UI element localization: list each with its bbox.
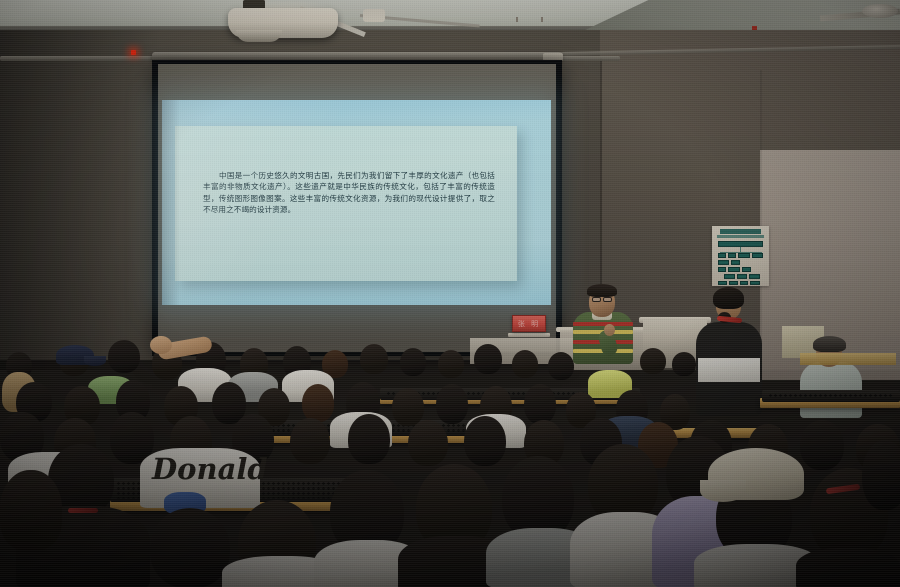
wall-left-shadow: [0, 30, 160, 370]
projector-connector: [363, 9, 385, 22]
audience-head: [436, 384, 468, 424]
poster-node: [728, 253, 736, 258]
cap-brim-icon: [84, 356, 106, 366]
shirt-text: Donald: [152, 452, 268, 486]
placard-base: [508, 333, 550, 337]
audience-head: [640, 348, 666, 374]
poster-node: [731, 260, 740, 265]
projected-image-area: 中国是一个历史悠久的文明古国，先民们为我们留下了丰厚的文化遗产（也包括丰富的非物…: [162, 100, 551, 305]
audience-head: [408, 420, 448, 466]
necklace-icon: [68, 508, 98, 513]
audience-head: [438, 350, 464, 378]
poster-node: [750, 281, 760, 285]
seat-back: [762, 390, 900, 402]
ceiling-fan-hub-icon: [862, 4, 898, 18]
presentation-slide: 中国是一个历史悠久的文明古国，先民们为我们留下了丰厚的文化遗产（也包括丰富的非物…: [175, 126, 517, 281]
poster-node: [718, 281, 727, 285]
presenter-hand: [604, 324, 615, 336]
wall-notice-board: [712, 226, 769, 286]
audience-head: [548, 352, 574, 380]
audience-head: [348, 414, 390, 464]
poster-subheading: [717, 235, 764, 238]
audience-head: [524, 384, 556, 424]
poster-node: [718, 260, 729, 265]
eyeglasses-icon: [603, 297, 612, 302]
placard-leg: [541, 17, 543, 22]
audience-head: [290, 418, 330, 464]
poster-node: [724, 274, 735, 279]
speaker-name-placard: 张 明: [512, 315, 546, 332]
poster-node: [729, 281, 738, 285]
poster-node: [718, 253, 726, 258]
seated-attendee-hair: [813, 336, 846, 352]
placard-text: 张 明: [518, 319, 540, 329]
audience-shoulders-foreground: [796, 548, 900, 587]
poster-node: [749, 274, 760, 279]
raised-hand: [150, 336, 172, 354]
audience-head: [108, 340, 140, 373]
poster-node: [718, 267, 726, 272]
audience-head: [464, 416, 506, 466]
projector-lens-icon: [236, 30, 282, 42]
lecture-hall-photo: 中国是一个历史悠久的文明古国，先民们为我们留下了丰厚的文化遗产（也包括丰富的非物…: [0, 0, 900, 587]
audience-head-foreground: [862, 440, 900, 510]
standing-student-hair: [713, 287, 744, 309]
audience-head: [800, 420, 844, 470]
audience-head: [512, 350, 538, 378]
wall-seam: [760, 70, 762, 360]
audience-head: [400, 348, 426, 376]
poster-node: [728, 267, 740, 272]
placard-leg: [516, 17, 518, 22]
cap-brim-icon: [700, 480, 746, 502]
polo-stripe: [573, 322, 633, 326]
poster-node: [738, 253, 750, 258]
audience-head-foreground: [0, 470, 62, 550]
side-desk-row: [800, 353, 896, 365]
audience-head: [474, 344, 502, 374]
audience-head: [360, 344, 388, 374]
screen-power-led-icon: [131, 50, 136, 55]
audience-head: [392, 388, 424, 426]
presenter-hair: [587, 284, 617, 297]
poster-node: [737, 274, 747, 279]
audience-head: [672, 352, 696, 376]
eyeglasses-icon: [592, 297, 601, 302]
standing-student-shirt-stripe: [698, 358, 760, 382]
audience-head: [302, 384, 334, 422]
poster-heading: [720, 229, 761, 234]
slide-body-text: 中国是一个历史悠久的文明古国，先民们为我们留下了丰厚的文化遗产（也包括丰富的非物…: [203, 170, 495, 216]
poster-node: [752, 253, 763, 258]
poster-node: [742, 267, 751, 272]
audience-head-foreground: [150, 508, 230, 587]
poster-node: [740, 281, 748, 285]
